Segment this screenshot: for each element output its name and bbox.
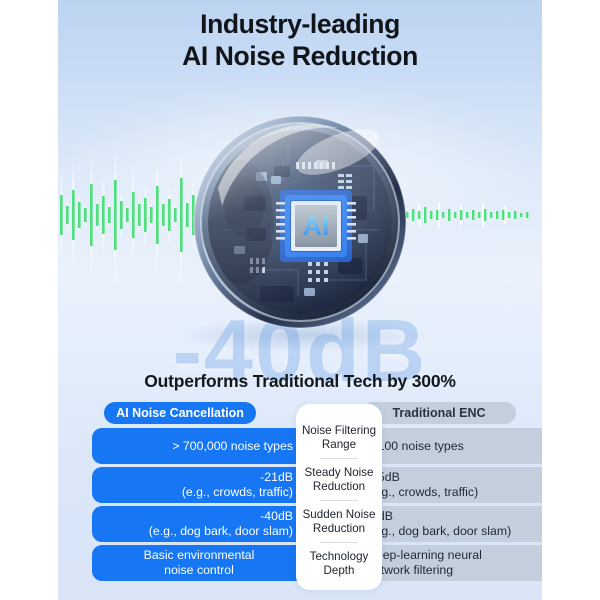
criteria-item: Steady Noise Reduction: [296, 460, 382, 499]
headline-line-1: Industry-leading: [200, 9, 400, 39]
criteria-item: Noise Filtering Range: [296, 418, 382, 457]
table-row: Basic environmental noise control: [92, 545, 306, 581]
criteria-line-2: Depth: [324, 564, 355, 578]
cell-line-1: -40dB: [260, 509, 293, 524]
transparent-earbud-image: AI: [188, 110, 412, 334]
table-row: -2dB (e.g., dog bark, door slam): [354, 506, 542, 542]
table-row: -15dB (e.g., crowds, traffic): [354, 467, 542, 503]
cell-line-1: Deep-learning neural: [367, 548, 482, 563]
cell-line-1: > 700,000 noise types: [172, 439, 293, 454]
table-row: < 100 noise types: [354, 428, 542, 464]
cell-line-2: noise control: [164, 563, 234, 578]
criteria-item: Technology Depth: [296, 544, 382, 583]
criteria-divider: [320, 542, 358, 543]
header-ai-noise-cancellation: AI Noise Cancellation: [104, 402, 256, 424]
cell-line-2: (e.g., crowds, traffic): [367, 485, 478, 500]
cell-line-2: (e.g., dog bark, door slam): [367, 524, 511, 539]
criteria-line-2: Reduction: [313, 480, 365, 494]
criteria-line-2: Range: [322, 438, 356, 452]
criteria-divider: [320, 500, 358, 501]
column-ai-noise-cancellation: > 700,000 noise types -21dB (e.g., crowd…: [92, 428, 306, 584]
cell-line-2: (e.g., crowds, traffic): [182, 485, 293, 500]
header-traditional-enc: Traditional ENC: [362, 402, 516, 424]
criteria-divider: [320, 458, 358, 459]
table-row: -40dB (e.g., dog bark, door slam): [92, 506, 306, 542]
cell-line-1: -21dB: [260, 470, 293, 485]
banner-content: Industry-leading AI Noise Reduction: [58, 0, 542, 600]
criteria-item: Sudden Noise Reduction: [296, 502, 382, 541]
comparison-title: Outperforms Traditional Tech by 300%: [58, 371, 542, 392]
criteria-line-1: Steady Noise: [305, 466, 374, 480]
criteria-line-2: Reduction: [313, 522, 365, 536]
criteria-line-1: Noise Filtering: [302, 424, 376, 438]
criteria-column: Noise Filtering Range Steady Noise Reduc…: [296, 404, 382, 590]
table-row: Deep-learning neural network filtering: [354, 545, 542, 581]
table-row: -21dB (e.g., crowds, traffic): [92, 467, 306, 503]
criteria-line-1: Technology: [310, 550, 369, 564]
criteria-line-1: Sudden Noise: [303, 508, 376, 522]
promo-banner-page: Industry-leading AI Noise Reduction: [0, 0, 600, 600]
cell-line-2: (e.g., dog bark, door slam): [149, 524, 293, 539]
cell-line-1: Basic environmental: [144, 548, 255, 563]
table-row: > 700,000 noise types: [92, 428, 306, 464]
page-title: Industry-leading AI Noise Reduction: [58, 8, 542, 73]
column-traditional-enc: < 100 noise types -15dB (e.g., crowds, t…: [354, 428, 542, 584]
headline-line-2: AI Noise Reduction: [58, 40, 542, 72]
